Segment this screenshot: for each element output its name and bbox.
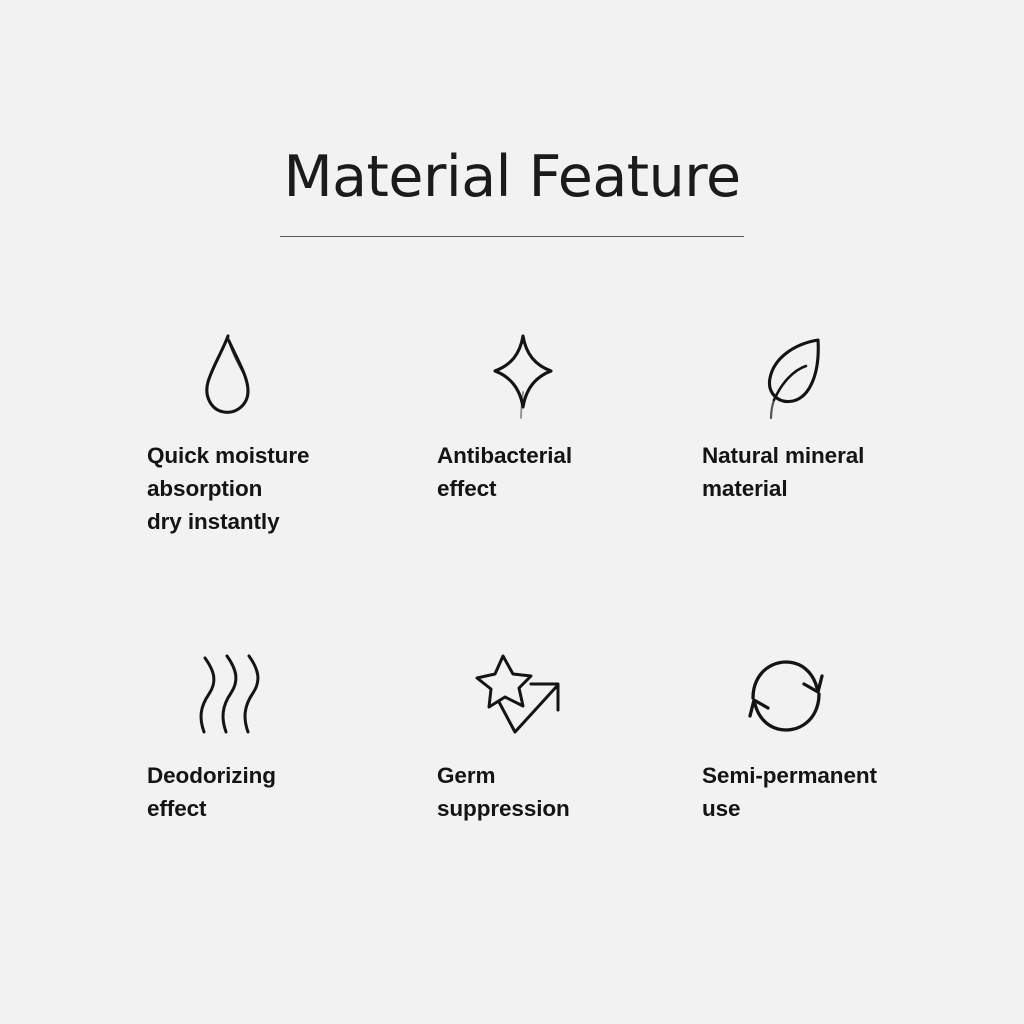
feature-item-germ-suppression: Germ suppression [437,650,702,825]
recycle-arrows-icon [702,650,947,745]
feature-item-deodorizing-effect: Deodorizing effect [147,650,437,825]
odor-waves-icon [147,650,437,745]
leaf-icon [702,330,947,425]
feature-label: Quick moisture absorption dry instantly [147,439,437,538]
feature-label: Semi-permanent use [702,759,947,825]
feature-item-antibacterial-effect: Antibacterial effect [437,330,702,650]
star-rising-arrow-icon [437,650,702,745]
feature-grid: Quick moisture absorption dry instantly … [147,330,947,825]
material-feature-page: Material Feature Quick moisture absorpti… [0,0,1024,1024]
feature-label: Natural mineral material [702,439,947,505]
page-header: Material Feature [0,148,1024,237]
page-title: Material Feature [0,148,1024,208]
feature-label: Antibacterial effect [437,439,702,505]
feature-item-natural-mineral-material: Natural mineral material [702,330,947,650]
title-divider [280,236,744,237]
feature-label: Germ suppression [437,759,702,825]
sparkle-star-icon [437,330,702,425]
water-droplet-icon [147,330,437,425]
feature-item-semi-permanent-use: Semi-permanent use [702,650,947,825]
feature-item-quick-moisture-absorption: Quick moisture absorption dry instantly [147,330,437,650]
feature-label: Deodorizing effect [147,759,437,825]
